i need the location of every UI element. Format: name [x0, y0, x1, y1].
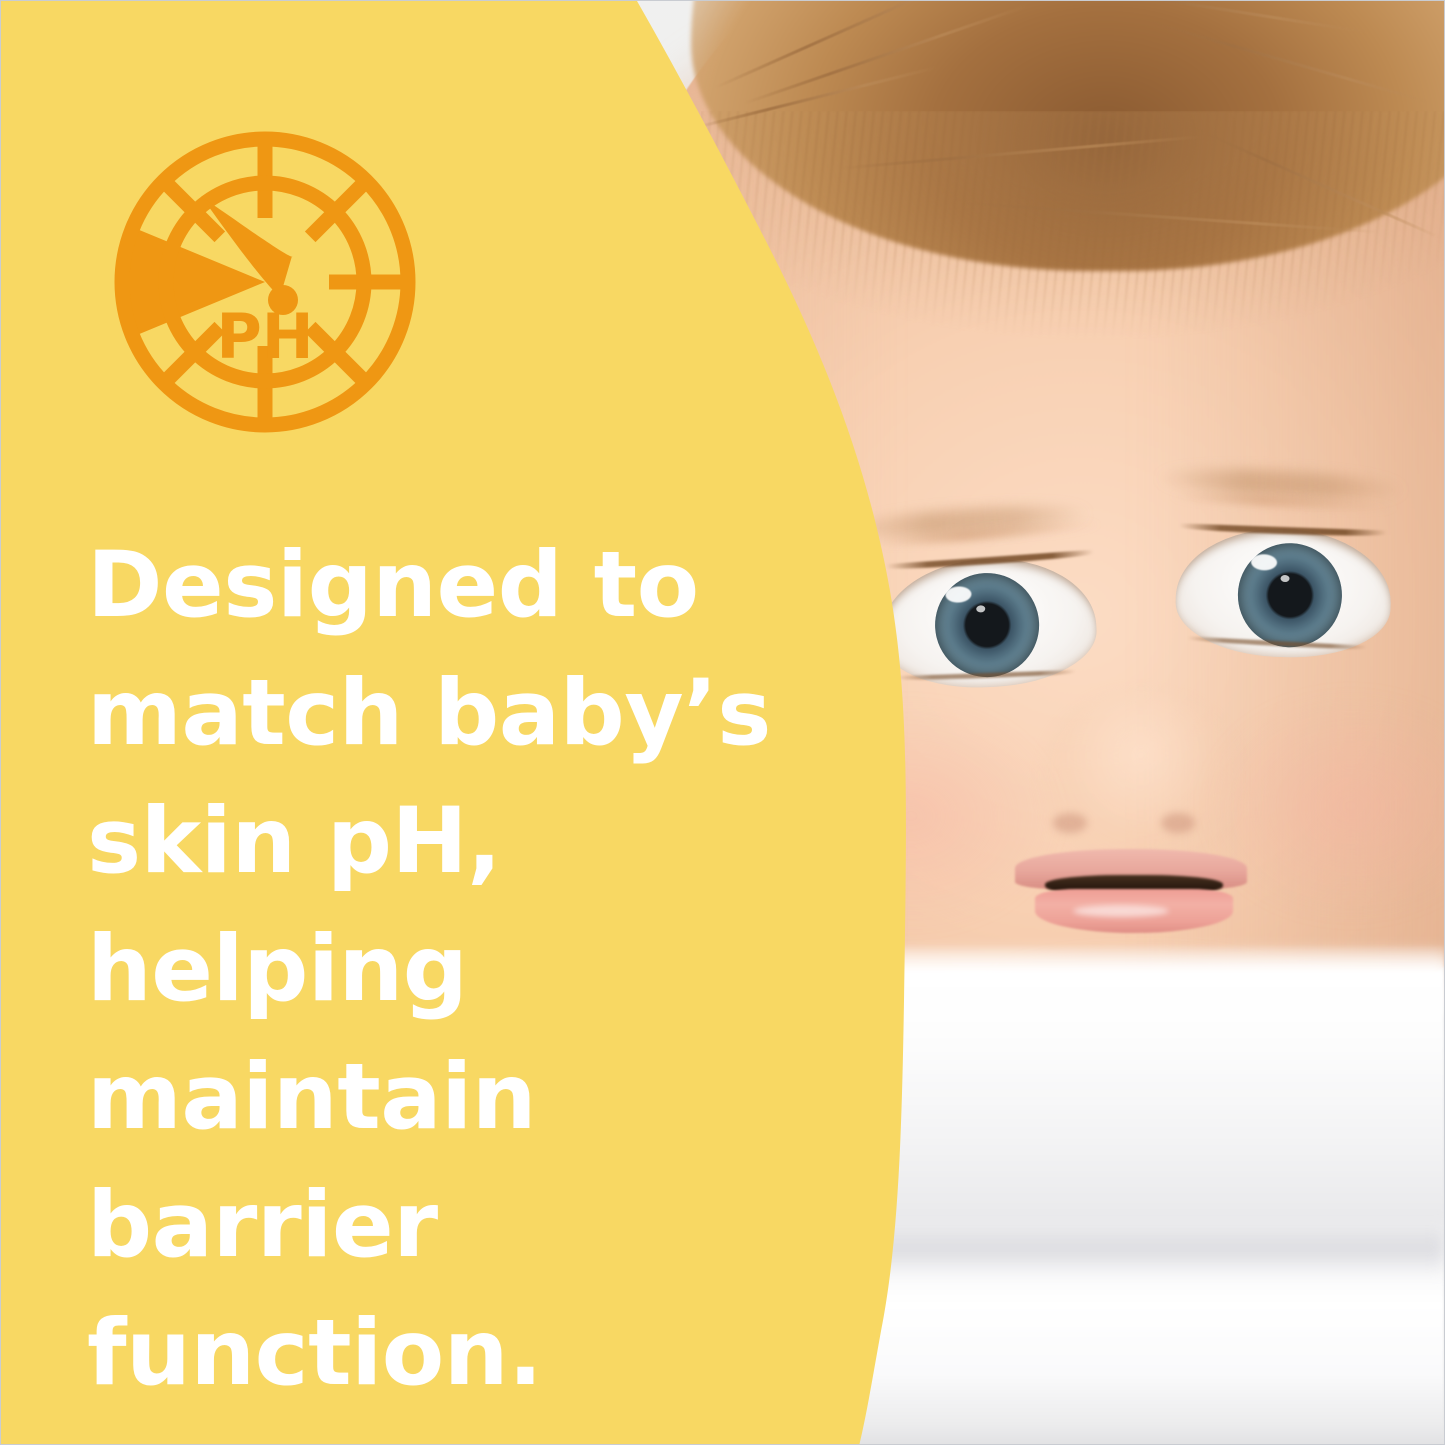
- ph-gauge-icon-graphic: PH: [109, 139, 408, 425]
- nostril-left: [1053, 813, 1087, 833]
- ph-gauge-icon: PH: [109, 126, 421, 438]
- iris-left: [932, 570, 1041, 679]
- gauge-ph-label: PH: [216, 300, 313, 373]
- mouth: [1001, 849, 1271, 945]
- headline-text: Designed to match baby’s skin pH, helpin…: [87, 522, 877, 1418]
- lip-highlight: [1073, 905, 1169, 917]
- nose: [1041, 691, 1241, 861]
- product-feature-image: PH Designed to match baby’s skin pH, hel…: [0, 0, 1445, 1445]
- nostril-right: [1161, 813, 1195, 833]
